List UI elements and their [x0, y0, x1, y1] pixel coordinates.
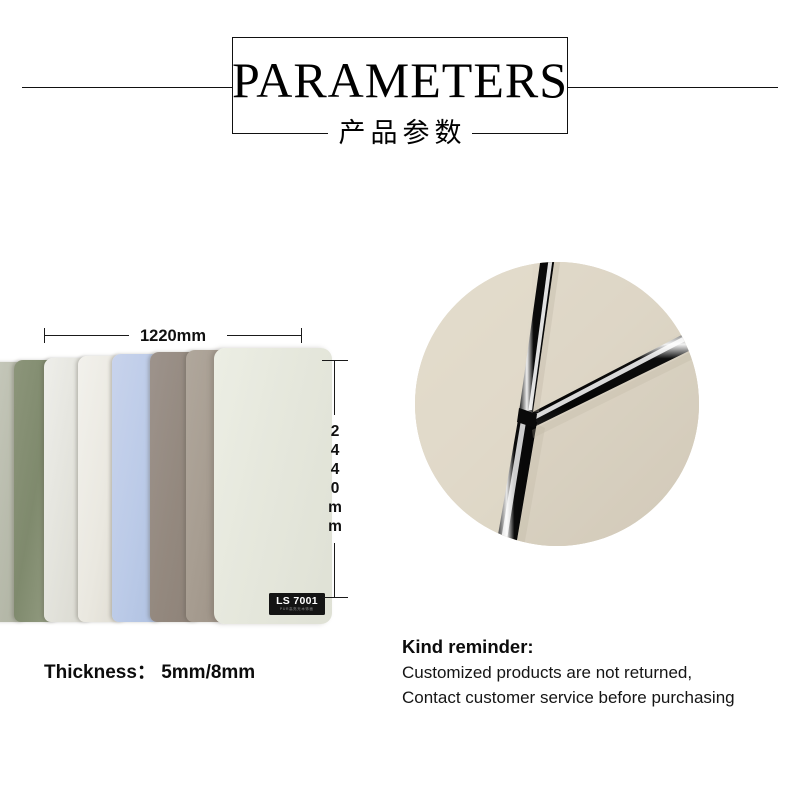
height-dimension-char: 4	[318, 441, 352, 460]
kind-reminder-title: Kind reminder:	[402, 634, 792, 660]
product-code-badge: LS 7001 PUR高亮光木饰面	[269, 593, 325, 615]
product-code-text: LS 7001	[276, 596, 318, 607]
height-dimension-char: m	[318, 517, 352, 536]
kind-reminder-line: Customized products are not returned,	[402, 660, 792, 685]
height-dimension-char: 2	[318, 422, 352, 441]
page-title-english: PARAMETERS	[232, 52, 568, 108]
panel-joint-detail-illustration	[415, 262, 699, 546]
header-rule-right	[567, 87, 778, 88]
header-rule-left	[22, 87, 233, 88]
kind-reminder-line: Contact customer service before purchasi…	[402, 685, 792, 710]
height-dimension-top-segment	[334, 361, 335, 415]
board-swatch-front: LS 7001 PUR高亮光木饰面	[214, 348, 332, 624]
height-dimension-bottom-cap	[322, 597, 348, 598]
height-dimension-char: 4	[318, 460, 352, 479]
height-dimension-label: 2 4 4 0 m m	[318, 422, 352, 536]
height-dimension-char: m	[318, 498, 352, 517]
height-dimension-line: 2 4 4 0 m m	[318, 360, 352, 598]
width-dimension-line: 1220mm	[44, 325, 302, 347]
page-title-chinese: 产品参数	[232, 118, 568, 150]
height-dimension-bottom-segment	[334, 543, 335, 597]
height-dimension-top-cap	[322, 360, 348, 361]
thickness-label: Thickness： 5mm/8mm	[44, 660, 255, 686]
width-dimension-label: 1220mm	[44, 325, 302, 347]
product-code-subtitle: PUR高亮光木饰面	[280, 607, 314, 612]
parameters-page: PARAMETERS 产品参数 LS 7001 PUR高亮光木饰面 1220mm	[0, 0, 800, 800]
height-dimension-char: 0	[318, 479, 352, 498]
header-frame-top-border	[232, 37, 568, 38]
kind-reminder-block: Kind reminder: Customized products are n…	[402, 634, 792, 710]
detail-photo-circle	[415, 262, 699, 546]
